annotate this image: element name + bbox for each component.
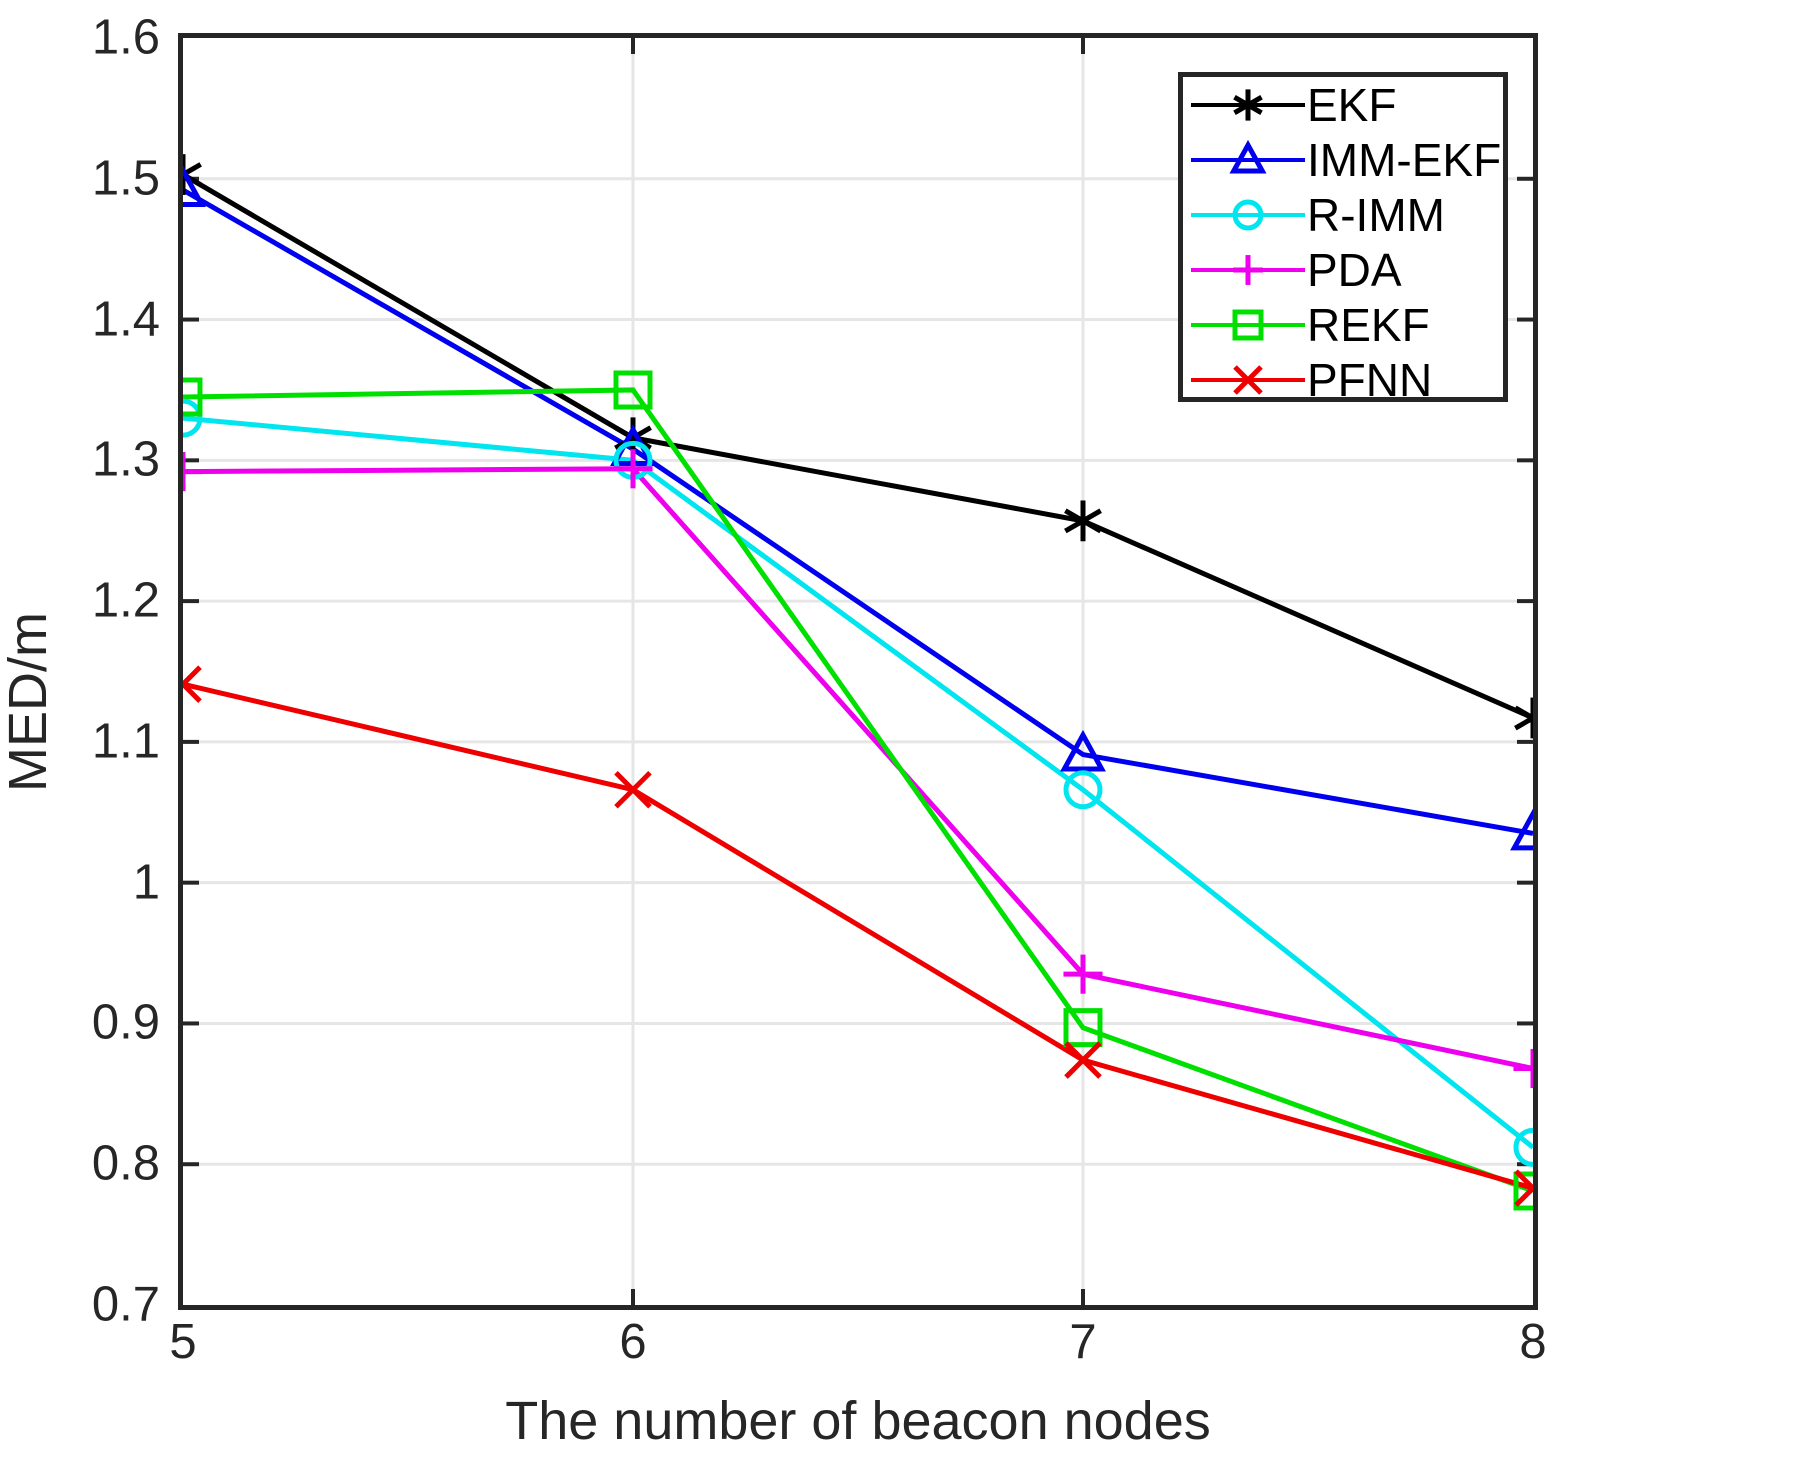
legend-item-pfnn[interactable]: PFNN <box>1183 352 1503 407</box>
y-tick-label: 1 <box>10 858 160 907</box>
y-tick-label: 1.3 <box>10 436 160 485</box>
figure-root: MED/m The number of beacon nodes 0.70.80… <box>0 0 1820 1476</box>
legend-swatch-asterisk-icon <box>1189 85 1307 125</box>
data-point-marker-triangle <box>183 170 202 204</box>
legend-swatch-square-icon <box>1189 305 1307 345</box>
series-line-pfnn <box>183 684 1533 1188</box>
legend-label: PDA <box>1307 247 1402 293</box>
y-tick-label: 1.1 <box>10 717 160 766</box>
series-line-pda <box>183 469 1533 1069</box>
legend-item-imm-ekf[interactable]: IMM-EKF <box>1183 132 1503 187</box>
series-line-r-imm <box>183 418 1533 1147</box>
x-tick-label: 6 <box>619 1318 646 1367</box>
legend-marker-circle-icon <box>1226 193 1270 237</box>
legend-label: REKF <box>1307 302 1430 348</box>
legend-swatch-triangle-icon <box>1189 140 1307 180</box>
data-point-marker-square <box>1235 312 1261 338</box>
legend-label: PFNN <box>1307 357 1432 403</box>
chart-legend[interactable]: EKFIMM-EKFR-IMMPDAREKFPFNN <box>1178 72 1508 402</box>
y-tick-label: 0.9 <box>10 999 160 1048</box>
legend-marker-triangle-icon <box>1226 138 1270 182</box>
y-tick-label: 0.7 <box>10 1281 160 1330</box>
data-point-marker-cross <box>1066 1043 1100 1077</box>
data-point-marker-plus <box>183 452 203 491</box>
legend-item-r-imm[interactable]: R-IMM <box>1183 187 1503 242</box>
legend-swatch-circle-icon <box>1189 195 1307 235</box>
x-axis-label: The number of beacon nodes <box>178 1390 1538 1452</box>
y-tick-label: 1.5 <box>10 154 160 203</box>
legend-marker-plus-icon <box>1226 248 1270 292</box>
data-point-marker-triangle <box>1234 145 1263 171</box>
x-tick-label: 7 <box>1069 1318 1096 1367</box>
data-point-marker-asterisk <box>1515 698 1533 739</box>
y-tick-label: 1.6 <box>10 14 160 63</box>
y-tick-label: 0.8 <box>10 1140 160 1189</box>
y-tick-label: 1.4 <box>10 295 160 344</box>
legend-item-ekf[interactable]: EKF <box>1183 77 1503 132</box>
x-tick-label: 8 <box>1519 1318 1546 1367</box>
legend-marker-asterisk-icon <box>1226 83 1270 127</box>
data-point-marker-plus <box>1233 255 1263 285</box>
legend-swatch-plus-icon <box>1189 250 1307 290</box>
data-point-marker-plus <box>1513 1049 1533 1088</box>
data-point-marker-circle <box>1235 202 1261 228</box>
legend-label: IMM-EKF <box>1307 137 1501 183</box>
data-point-marker-cross <box>1235 367 1261 393</box>
legend-marker-cross-icon <box>1226 358 1270 402</box>
data-point-marker-cross <box>616 773 650 807</box>
data-point-marker-asterisk <box>1234 89 1261 120</box>
series-line-rekf <box>183 390 1533 1191</box>
legend-item-pda[interactable]: PDA <box>1183 242 1503 297</box>
legend-item-rekf[interactable]: REKF <box>1183 297 1503 352</box>
legend-label: R-IMM <box>1307 192 1445 238</box>
legend-swatch-cross-icon <box>1189 360 1307 400</box>
legend-marker-square-icon <box>1226 303 1270 347</box>
y-tick-label: 1.2 <box>10 577 160 626</box>
x-tick-label: 5 <box>169 1318 196 1367</box>
legend-label: EKF <box>1307 82 1396 128</box>
